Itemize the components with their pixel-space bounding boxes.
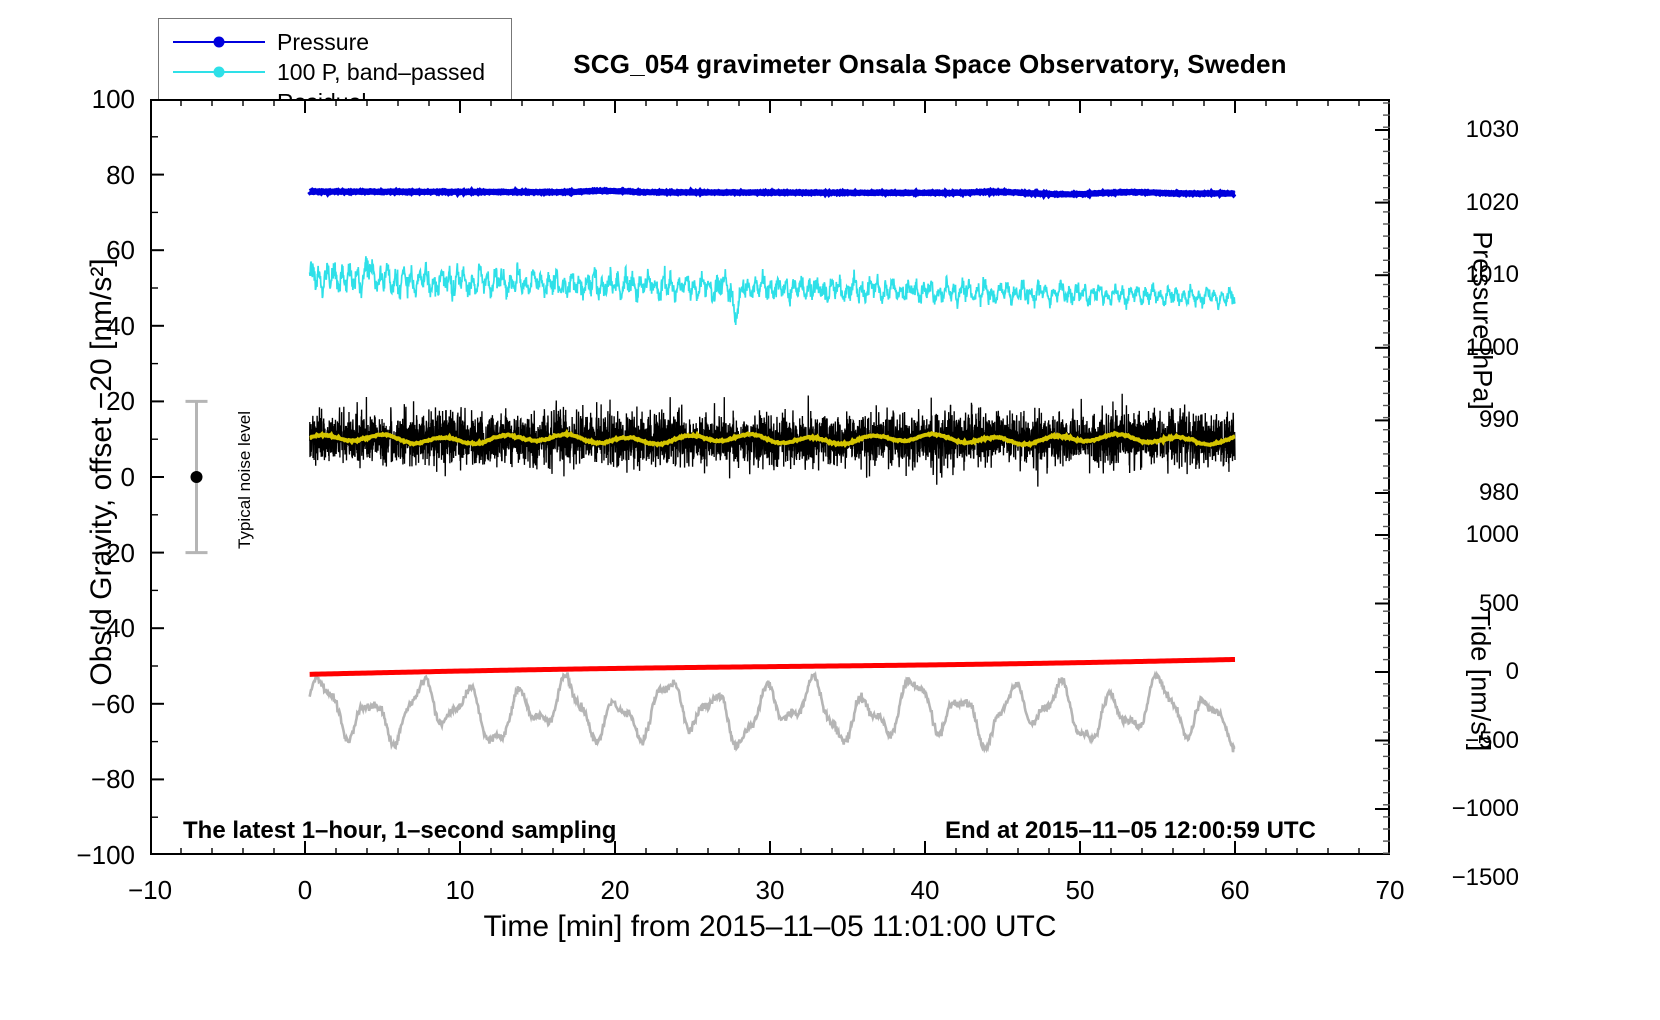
- y-axis-tick-label: −40: [55, 615, 135, 641]
- series-theor-tide: [310, 659, 1235, 674]
- series-last-10-min: [310, 672, 1235, 752]
- tide-axis-tick-label: 500: [1404, 592, 1519, 616]
- x-axis-tick-label: 30: [710, 875, 830, 906]
- axis-ticks-x: [150, 99, 1390, 855]
- axis-ticks-y: [150, 99, 164, 855]
- y-axis-tick-label: 0: [55, 464, 135, 490]
- y-axis-tick-label: −60: [55, 691, 135, 717]
- tide-axis-tick-label: −500: [1404, 729, 1519, 753]
- y-axis-tick-label: 60: [55, 237, 135, 263]
- chart-root: Pressure100 P, band–passedResidual... la…: [0, 0, 1660, 1020]
- x-axis-tick-label: 40: [865, 875, 985, 906]
- axis-ticks-right: [1375, 103, 1390, 853]
- x-axis-tick-label: 50: [1020, 875, 1140, 906]
- x-axis-tick-label: 70: [1330, 875, 1450, 906]
- y-axis-tick-label: −80: [55, 766, 135, 792]
- y-axis-tick-labels: 100806040200−20−40−60−80−100: [55, 0, 135, 1020]
- chart-title: SCG_054 gravimeter Onsala Space Observat…: [450, 49, 1410, 80]
- x-axis-tick-label: −10: [90, 875, 210, 906]
- noise-level-label: Typical noise level: [235, 380, 255, 580]
- series-pressure: [310, 190, 1235, 194]
- x-axis-tick-labels: −10010203040506070: [0, 875, 1660, 915]
- x-axis-title: Time [min] from 2015–11–05 11:01:00 UTC: [330, 910, 1210, 944]
- tide-axis-tick-label: −1000: [1404, 797, 1519, 821]
- tide-axis-tick-labels: 10005000−500−1000−1500: [1404, 0, 1519, 1020]
- x-axis-tick-label: 60: [1175, 875, 1295, 906]
- y-axis-tick-label: 80: [55, 162, 135, 188]
- tide-axis-tick-label: 1000: [1404, 523, 1519, 547]
- sampling-note: The latest 1–hour, 1–second sampling: [183, 817, 616, 845]
- legend-item-label: Pressure: [265, 29, 369, 56]
- y-axis-tick-label: −20: [55, 540, 135, 566]
- y-axis-tick-label: −100: [55, 842, 135, 868]
- y-axis-tick-label: 100: [55, 86, 135, 112]
- y-axis-tick-label: 20: [55, 388, 135, 414]
- series-layer: [150, 99, 1390, 855]
- x-axis-tick-label: 10: [400, 875, 520, 906]
- tide-axis-tick-label: 0: [1404, 660, 1519, 684]
- noise-level-marker: [186, 401, 208, 552]
- plot-canvas: [150, 99, 1390, 855]
- x-axis-tick-label: 0: [245, 875, 365, 906]
- x-axis-tick-label: 20: [555, 875, 675, 906]
- y-axis-tick-label: 40: [55, 313, 135, 339]
- series-band-passed: [310, 256, 1235, 325]
- legend-swatch-icon: [173, 62, 265, 82]
- end-time-note: End at 2015–11–05 12:00:59 UTC: [945, 817, 1316, 845]
- legend-swatch-icon: [173, 32, 265, 52]
